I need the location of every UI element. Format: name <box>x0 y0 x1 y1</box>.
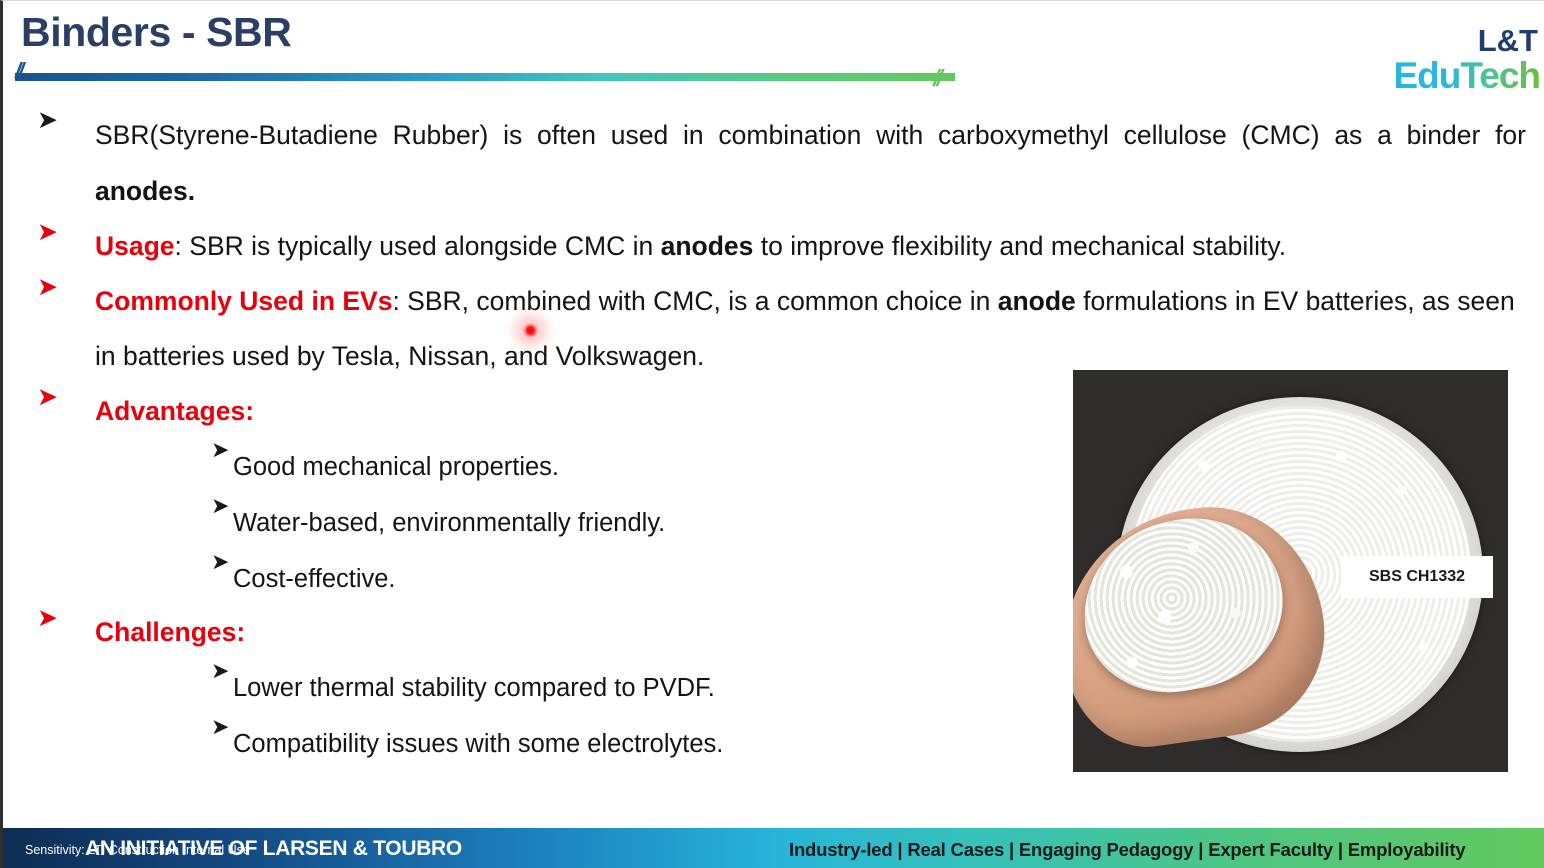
logo-lt-text: L&T <box>1394 25 1541 56</box>
list-item: ➤ Usage: SBR is typically used alongside… <box>31 219 1526 274</box>
list-item-text: Challenges: <box>71 605 1031 660</box>
slide-canvas: Binders - SBR // // L&T EduTech ➤ SBR(St… <box>0 0 1544 868</box>
list-item-text: Usage: SBR is typically used alongside C… <box>71 219 1526 274</box>
lt-edutech-logo: L&T EduTech <box>1394 25 1541 94</box>
list-item-text: Good mechanical properties. <box>211 440 1087 495</box>
bullet-arrow-icon: ➤ <box>37 107 71 132</box>
list-item-text: Water-based, environmentally friendly. <box>211 496 1087 551</box>
bullet-arrow-icon: ➤ <box>149 552 211 574</box>
list-item-text: Cost-effective. <box>211 552 1087 607</box>
bullet-arrow-icon: ➤ <box>149 717 211 739</box>
list-item-challenges-heading: ➤ Challenges: <box>31 605 1031 660</box>
bullet-arrow-icon: ➤ <box>37 605 71 630</box>
title-underline-bar <box>15 73 955 81</box>
rule-mark-right-icon: // <box>933 67 969 89</box>
list-item-text: Compatibility issues with some electroly… <box>211 717 1087 772</box>
bullet-arrow-icon: ➤ <box>37 219 71 244</box>
bullet-arrow-icon: ➤ <box>149 440 211 462</box>
list-item-text: Lower thermal stability compared to PVDF… <box>211 661 1087 716</box>
sbs-pellets-photo: SBS CH1332 <box>1073 370 1508 772</box>
list-item: ➤ Good mechanical properties. <box>87 440 1087 495</box>
bullet-arrow-icon: ➤ <box>149 496 211 518</box>
footer-gap <box>3 820 1544 828</box>
list-item: ➤ Lower thermal stability compared to PV… <box>87 661 1087 716</box>
list-item: ➤ Commonly Used in EVs: SBR, combined wi… <box>31 274 1526 384</box>
photo-caption-label: SBS CH1332 <box>1341 556 1493 598</box>
footer-sensitivity-label: Sensitivity: LTI Construction Internal U… <box>25 843 250 857</box>
list-item: ➤ Compatibility issues with some electro… <box>87 717 1087 772</box>
list-item-text: SBR(Styrene-Butadiene Rubber) is often u… <box>71 107 1526 219</box>
list-item: ➤ Water-based, environmentally friendly. <box>87 496 1087 551</box>
footer-tagline-text: Industry-led | Real Cases | Engaging Ped… <box>789 839 1465 861</box>
list-item: ➤ Cost-effective. <box>87 552 1087 607</box>
list-item-text: Commonly Used in EVs: SBR, combined with… <box>71 274 1526 384</box>
bullet-arrow-icon: ➤ <box>149 661 211 683</box>
footer-bar: AN INITIATIVE OF LARSEN & TOUBRO Sensiti… <box>3 828 1544 868</box>
bullet-arrow-icon: ➤ <box>37 274 71 299</box>
logo-edutech-text: EduTech <box>1394 57 1541 94</box>
bullet-arrow-icon: ➤ <box>37 384 71 409</box>
list-item: ➤ SBR(Styrene-Butadiene Rubber) is often… <box>31 107 1526 219</box>
page-title: Binders - SBR <box>21 9 291 56</box>
